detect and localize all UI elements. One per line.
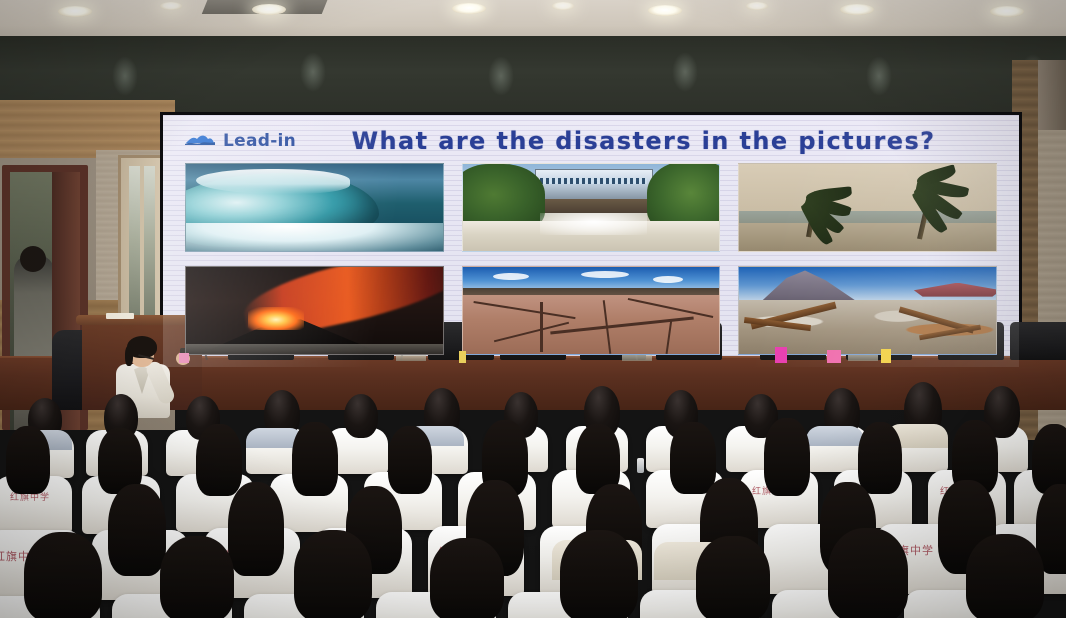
- audience-long-hair: [670, 422, 716, 494]
- wall-light-reflection: [488, 56, 514, 96]
- tsunami-photo: [185, 163, 444, 252]
- audience-long-hair: [24, 532, 102, 618]
- audience-long-hair: [160, 536, 234, 618]
- wave-foam: [185, 223, 444, 252]
- audience-long-hair: [696, 536, 770, 618]
- ceiling-downlight: [746, 2, 768, 10]
- led-screen-bezel: Lead-in What are the disasters in the pi…: [160, 112, 1022, 370]
- earthquake-photo: [738, 266, 997, 355]
- slide-decor-pink: [179, 353, 189, 363]
- flood-photo: [462, 163, 721, 252]
- audience-shoulders: [806, 426, 864, 446]
- audience-long-hair: [388, 426, 432, 494]
- drought-cracked-earth: [463, 295, 720, 354]
- drought-cloud: [653, 276, 683, 283]
- ceiling-downlight: [160, 2, 182, 10]
- slide-decor-pink: [827, 350, 841, 363]
- ceiling-downlight: [552, 2, 574, 10]
- audience-long-hair: [228, 482, 284, 576]
- palm-tree-right: [883, 177, 959, 239]
- wall-light-reflection: [866, 56, 892, 96]
- led-screen: Lead-in What are the disasters in the pi…: [163, 115, 1019, 367]
- slide-picture-grid: [185, 163, 997, 355]
- audience-seating: 红旗中学 红旗中学 红旗中学 红旗中学 红旗中学 红旗中学 红旗中学: [0, 372, 1066, 618]
- table-nameplate: [396, 355, 426, 361]
- slide-header: Lead-in What are the disasters in the pi…: [163, 121, 1019, 161]
- drought-photo: [462, 266, 721, 355]
- typhoon-photo: [738, 163, 997, 252]
- flood-spray: [540, 213, 648, 236]
- audience-long-hair: [108, 484, 166, 576]
- ceiling-downlight: [840, 4, 874, 15]
- slide-decor-yellow: [881, 349, 891, 363]
- flood-building-windows: [540, 178, 648, 184]
- soil-crack: [540, 302, 543, 352]
- person-in-doorway-head: [20, 246, 46, 272]
- lead-in-label: Lead-in: [223, 131, 296, 151]
- ceiling-downlight: [252, 4, 286, 15]
- flood-building: [535, 169, 653, 202]
- audience-long-hair: [430, 538, 504, 618]
- ceiling-downlight: [990, 6, 1024, 17]
- teacher-hair-side: [125, 346, 133, 366]
- table-nameplate: [622, 355, 652, 361]
- audience-long-hair: [966, 534, 1044, 618]
- volcano-photo: [185, 266, 444, 355]
- audience-long-hair: [294, 530, 372, 618]
- table-nameplate: [848, 355, 878, 361]
- ceiling-downlight: [648, 5, 682, 16]
- volcano-lava-glow: [248, 307, 304, 330]
- auditorium-photo: Lead-in What are the disasters in the pi…: [0, 0, 1066, 618]
- water-bottle: [637, 458, 644, 473]
- audience-head: [344, 394, 378, 438]
- audience-long-hair: [858, 422, 902, 494]
- lectern-papers: [106, 313, 134, 319]
- volcano-foreground: [186, 344, 443, 354]
- audience-long-hair: [292, 422, 338, 496]
- dais-chair: [1010, 322, 1066, 360]
- wall-light-reflection: [112, 56, 138, 96]
- ceiling-downlight: [452, 3, 486, 14]
- wall-light-reflection: [672, 52, 698, 92]
- audience-long-hair: [6, 426, 50, 494]
- mountain-wave-icon: [185, 132, 215, 151]
- ceiling-downlight: [58, 6, 92, 17]
- audience-long-hair: [764, 418, 810, 496]
- audience-long-hair: [196, 424, 242, 496]
- slide-decor-yellow: [459, 351, 466, 363]
- audience-long-hair: [828, 528, 908, 618]
- palm-tree-left: [780, 191, 840, 237]
- audience-long-hair: [560, 530, 638, 618]
- slide-title: What are the disasters in the pictures?: [296, 127, 1019, 155]
- lead-in-badge: Lead-in: [185, 131, 296, 151]
- slide-decor-magenta: [775, 347, 787, 363]
- wall-light-reflection: [300, 52, 326, 92]
